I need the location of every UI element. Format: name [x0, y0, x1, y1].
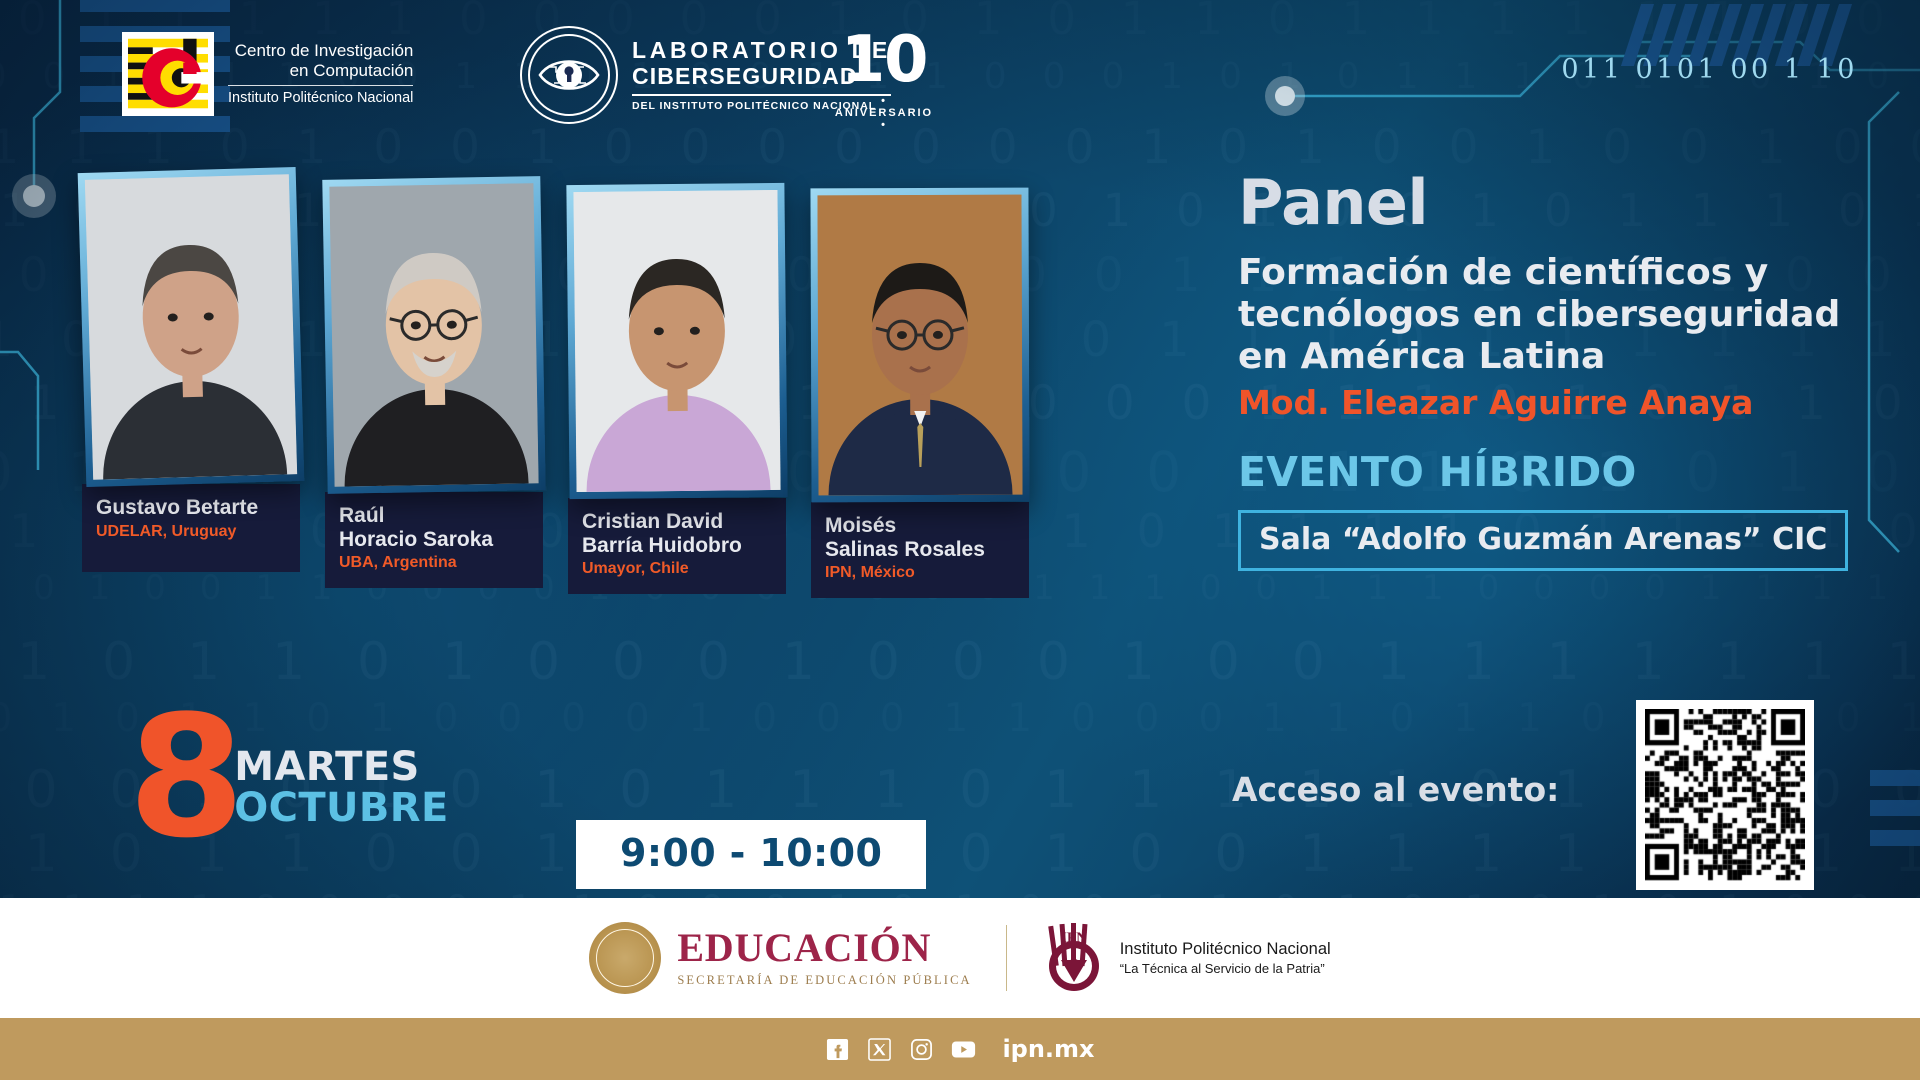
panel-title-line-2: tecnólogos en ciberseguridad	[1238, 294, 1878, 336]
speaker-affiliation: UDELAR, Uruguay	[96, 523, 286, 541]
cic-logo-icon	[122, 32, 214, 116]
cic-line-3: Instituto Politécnico Nacional	[228, 90, 413, 107]
ipn-line-1: Instituto Politécnico Nacional	[1120, 940, 1331, 959]
event-details: Panel Formación de científicos y tecnólo…	[1238, 172, 1878, 571]
date-day-number: 8	[128, 712, 238, 843]
x-twitter-icon[interactable]	[867, 1037, 892, 1062]
speaker-photo-frame	[810, 188, 1029, 503]
speaker-photo	[329, 183, 538, 487]
ipn-logo-icon: IPN	[1041, 922, 1107, 994]
mexico-eagle-seal-icon	[589, 922, 661, 994]
ipn-logo: IPN Instituto Politécnico Nacional “La T…	[1041, 922, 1331, 994]
venue-name: Sala “Adolfo Guzmán Arenas” CIC	[1259, 522, 1827, 557]
panel-title-line-3: en América Latina	[1238, 336, 1878, 378]
cic-logo: Centro de Investigación en Computación I…	[122, 32, 413, 116]
event-date: 8 MARTES OCTUBRE	[128, 712, 449, 843]
speaker-affiliation: Umayor, Chile	[582, 560, 772, 578]
anniversary-label: • ANIVERSARIO •	[830, 95, 938, 131]
venue-box: Sala “Adolfo Guzmán Arenas” CIC	[1238, 510, 1848, 571]
speaker-photo	[817, 195, 1022, 496]
footer-logos: EDUCACIÓN SECRETARÍA DE EDUCACIÓN PÚBLIC…	[0, 898, 1920, 1018]
anniversary-number: 10	[830, 30, 938, 91]
speaker-affiliation: IPN, México	[825, 564, 1015, 582]
speaker-photo-frame	[78, 167, 305, 487]
moderator-name: Mod. Eleazar Aguirre Anaya	[1238, 384, 1878, 422]
speaker-name: MoisésSalinas Rosales	[825, 514, 1015, 561]
cic-divider	[228, 85, 413, 86]
binary-top-right: 011 0101 00 1 10	[1561, 54, 1858, 85]
panel-title: Formación de científicos y tecnólogos en…	[1238, 252, 1878, 378]
speaker-photo-frame	[322, 176, 545, 494]
speaker-name: Cristian DavidBarría Huidobro	[582, 510, 772, 557]
event-time: 9:00 - 10:00	[620, 831, 882, 875]
cic-line-1: Centro de Investigación	[228, 41, 413, 61]
speaker-photo	[85, 174, 297, 480]
footer-divider	[1006, 925, 1007, 991]
date-weekday: MARTES	[234, 747, 449, 788]
speaker-photo-frame	[566, 183, 787, 499]
access-label: Acceso al evento:	[1232, 770, 1559, 809]
panel-kicker: Panel	[1238, 172, 1878, 234]
event-poster: 0 1 1 1 1 1 0 0 0 0 0 1 0 1 0 1 1 0 1 1 …	[0, 0, 1920, 1080]
speaker-name-plate: Cristian DavidBarría HuidobroUmayor, Chi…	[568, 498, 786, 594]
educacion-title: EDUCACIÓN	[677, 928, 971, 968]
event-time-box: 9:00 - 10:00	[576, 820, 926, 889]
date-month: OCTUBRE	[234, 788, 449, 829]
speaker-name-plate: Gustavo BetarteUDELAR, Uruguay	[82, 484, 300, 572]
youtube-icon[interactable]	[951, 1037, 976, 1062]
instagram-icon[interactable]	[909, 1037, 934, 1062]
anniversary-badge: 10 • ANIVERSARIO •	[830, 30, 938, 131]
website-label[interactable]: ipn.mx	[1002, 1035, 1094, 1063]
speaker-name: Gustavo Betarte	[96, 496, 286, 520]
speaker-photo	[573, 190, 780, 492]
svg-text:IPN: IPN	[1061, 930, 1087, 946]
educacion-subtitle: SECRETARÍA DE EDUCACIÓN PÚBLICA	[677, 973, 971, 988]
facebook-icon[interactable]	[825, 1037, 850, 1062]
panel-title-line-1: Formación de científicos y	[1238, 252, 1878, 294]
eye-lock-icon	[520, 26, 618, 124]
cic-line-2: en Computación	[228, 61, 413, 81]
poster-header: Centro de Investigación en Computación I…	[0, 0, 1920, 140]
event-access-qr-code[interactable]	[1636, 700, 1814, 890]
speaker-card: Cristian DavidBarría HuidobroUmayor, Chi…	[568, 184, 786, 594]
speaker-card: Gustavo BetarteUDELAR, Uruguay	[82, 170, 300, 572]
social-bar: ipn.mx	[0, 1018, 1920, 1080]
speaker-name: RaúlHoracio Saroka	[339, 504, 529, 551]
speaker-name-plate: RaúlHoracio SarokaUBA, Argentina	[325, 492, 543, 588]
educacion-logo: EDUCACIÓN SECRETARÍA DE EDUCACIÓN PÚBLIC…	[589, 922, 971, 994]
ipn-line-2: “La Técnica al Servicio de la Patria”	[1120, 961, 1331, 976]
speaker-card: RaúlHoracio SarokaUBA, Argentina	[325, 178, 543, 588]
speaker-affiliation: UBA, Argentina	[339, 554, 529, 572]
event-type-label: EVENTO HÍBRIDO	[1238, 448, 1878, 496]
speaker-name-plate: MoisésSalinas RosalesIPN, México	[811, 502, 1029, 598]
speaker-card: MoisésSalinas RosalesIPN, México	[811, 188, 1029, 598]
